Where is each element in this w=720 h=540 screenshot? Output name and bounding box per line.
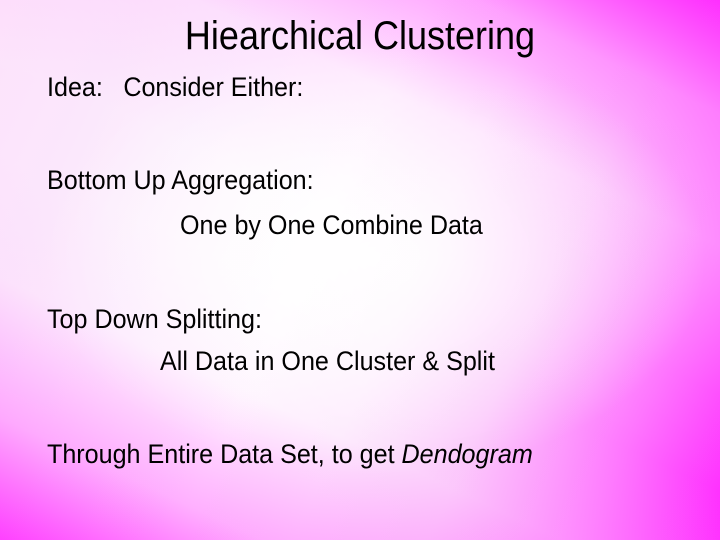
closing-text: Through Entire Data Set, to get — [47, 439, 402, 469]
top-down-heading: Top Down Splitting: — [47, 302, 262, 336]
bottom-up-heading: Bottom Up Aggregation: — [47, 163, 314, 197]
closing-line: Through Entire Data Set, to get Dendogra… — [47, 437, 533, 471]
idea-line: Idea:Consider Either: — [47, 70, 303, 104]
idea-label: Idea: — [47, 72, 103, 102]
closing-emphasis-dendogram: Dendogram — [402, 439, 533, 469]
slide-content: Hiearchical Clustering Idea:Consider Eit… — [0, 0, 720, 540]
idea-value: Consider Either: — [123, 72, 303, 102]
presentation-slide: Hiearchical Clustering Idea:Consider Eit… — [0, 0, 720, 540]
slide-title: Hiearchical Clustering — [36, 13, 684, 59]
top-down-detail: All Data in One Cluster & Split — [160, 344, 495, 378]
bottom-up-detail: One by One Combine Data — [180, 208, 483, 242]
